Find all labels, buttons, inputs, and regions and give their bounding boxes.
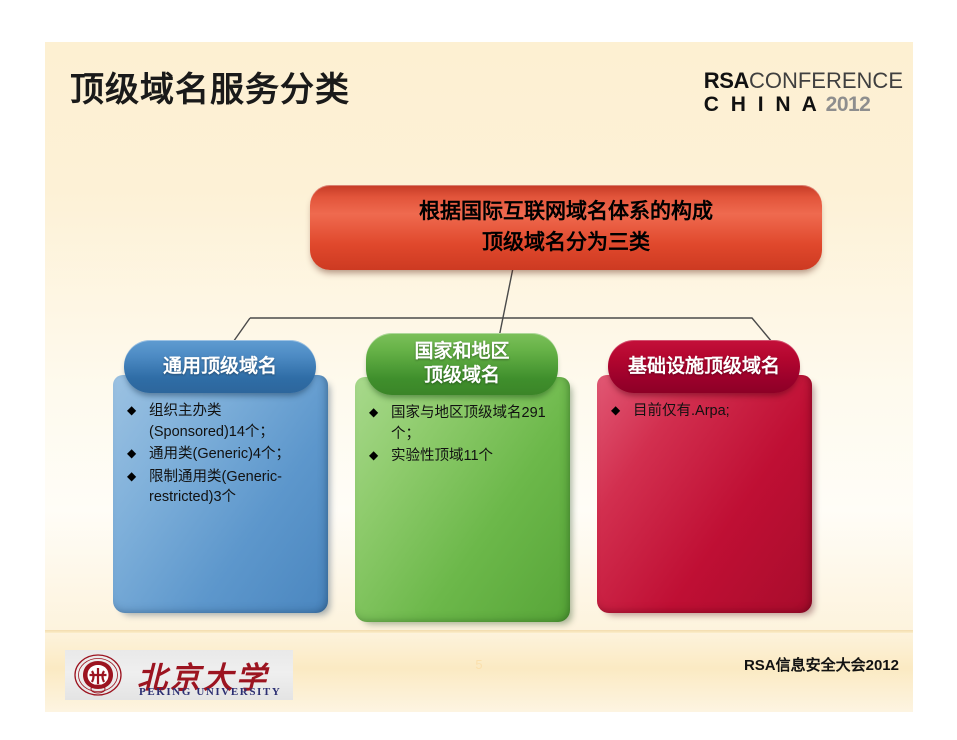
bullet-text: 限制通用类(Generic-restricted)3个 <box>149 469 282 506</box>
diagram-column-generic-tld: 通用顶级域名 ◆组织主办类(Sponsored)14个； ◆通用类(Generi… <box>113 340 328 613</box>
diagram-top-box-text: 根据国际互联网域名体系的构成 顶级域名分为三类 <box>419 197 713 258</box>
diagram-top-box: 根据国际互联网域名体系的构成 顶级域名分为三类 <box>310 185 822 270</box>
diagram-column-infrastructure-tld: 基础设施顶级域名 ◆目前仅有.Arpa; <box>597 340 812 613</box>
list-item: ◆限制通用类(Generic-restricted)3个 <box>125 467 314 508</box>
column-body-infrastructure-tld: ◆目前仅有.Arpa; <box>597 375 812 613</box>
footer-conference-label: RSA信息安全大会2012 <box>744 654 899 675</box>
list-item: ◆目前仅有.Arpa; <box>609 401 798 422</box>
list-item: ◆国家与地区顶级域名291个； <box>367 403 556 444</box>
column-header-line2: 顶级域名 <box>424 365 500 386</box>
bullet-text: 组织主办类(Sponsored)14个； <box>149 403 274 440</box>
diamond-bullet-icon: ◆ <box>127 402 136 419</box>
pku-name-en: PEKING UNIVERSITY <box>139 686 281 698</box>
list-item: ◆通用类(Generic)4个； <box>125 444 314 465</box>
top-box-line1: 根据国际互联网域名体系的构成 <box>419 197 713 227</box>
column-header-infrastructure-tld: 基础设施顶级域名 <box>608 340 800 393</box>
diamond-bullet-icon: ◆ <box>611 402 620 419</box>
column-header-label: 通用顶级域名 <box>163 355 277 379</box>
bullet-list-country-tld: ◆国家与地区顶级域名291个； ◆实验性顶域11个 <box>367 403 556 467</box>
bullet-text: 国家与地区顶级域名291个； <box>391 405 546 442</box>
bullet-text: 实验性顶域11个 <box>391 448 493 464</box>
bullet-list-infrastructure-tld: ◆目前仅有.Arpa; <box>609 401 798 422</box>
diamond-bullet-icon: ◆ <box>369 404 378 421</box>
column-header-country-tld: 国家和地区 顶级域名 <box>366 333 558 395</box>
bullet-text: 通用类(Generic)4个； <box>149 446 290 462</box>
diamond-bullet-icon: ◆ <box>127 468 136 485</box>
slide-canvas: 顶级域名服务分类 RSACONFERENCE C H I N A 2012 根据… <box>45 42 913 712</box>
diagram-column-country-tld: 国家和地区 顶级域名 ◆国家与地区顶级域名291个； ◆实验性顶域11个 <box>355 333 570 622</box>
diamond-bullet-icon: ◆ <box>369 447 378 464</box>
column-header-label: 基础设施顶级域名 <box>628 355 780 379</box>
column-body-generic-tld: ◆组织主办类(Sponsored)14个； ◆通用类(Generic)4个； ◆… <box>113 375 328 613</box>
bullet-text: 目前仅有.Arpa; <box>633 403 730 419</box>
column-header-label: 国家和地区 顶级域名 <box>414 340 509 388</box>
bullet-list-generic-tld: ◆组织主办类(Sponsored)14个； ◆通用类(Generic)4个； ◆… <box>125 401 314 508</box>
column-body-country-tld: ◆国家与地区顶级域名291个； ◆实验性顶域11个 <box>355 377 570 622</box>
diamond-bullet-icon: ◆ <box>127 445 136 462</box>
list-item: ◆实验性顶域11个 <box>367 446 556 467</box>
list-item: ◆组织主办类(Sponsored)14个； <box>125 401 314 442</box>
column-header-line1: 国家和地区 <box>414 341 509 362</box>
column-header-generic-tld: 通用顶级域名 <box>124 340 316 393</box>
top-box-line2: 顶级域名分为三类 <box>419 228 713 258</box>
